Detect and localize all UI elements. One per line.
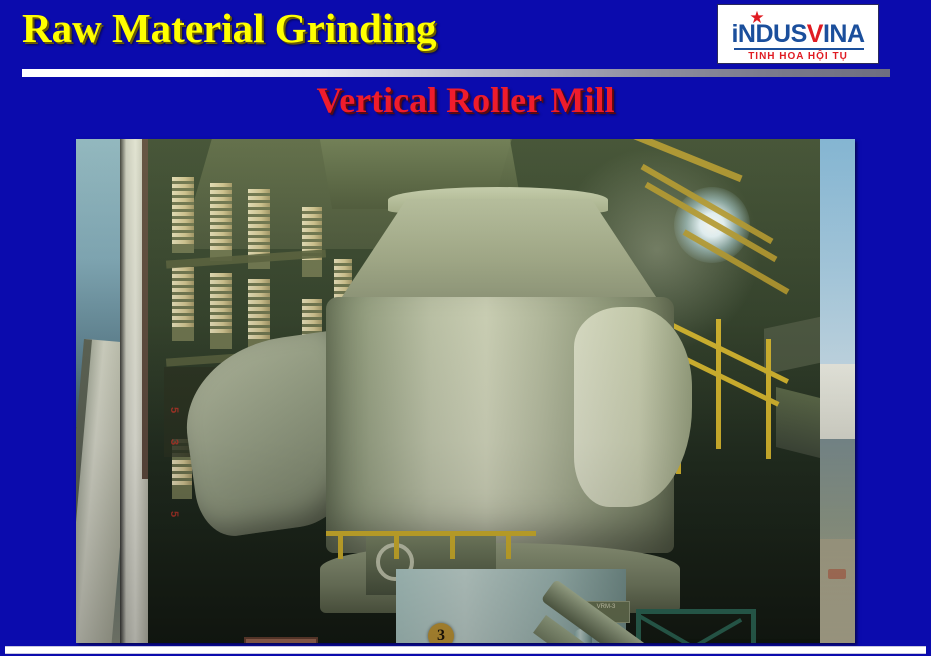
logo-word-part1: iNDUS: [731, 20, 806, 48]
page-subtitle: Vertical Roller Mill: [0, 79, 931, 121]
photo-railing-post: [338, 531, 343, 559]
logo-tagline: TINH HOA HỘI TỤ: [718, 50, 878, 63]
photo-crate: [244, 637, 318, 643]
photo-railing-post: [506, 531, 511, 559]
photo-right-ground-lower: [820, 539, 855, 643]
logo-word-part2: INA: [823, 20, 865, 48]
bottom-divider: [5, 646, 926, 654]
photo-railing-post: [394, 531, 399, 559]
photo-wall-marking: 5: [168, 407, 180, 413]
company-logo: ★ iNDUSVINA TINH HOA HỘI TỤ: [717, 4, 879, 64]
logo-inner: ★ iNDUSVINA TINH HOA HỘI TỤ: [718, 5, 878, 63]
photo-louver-panel: [302, 207, 322, 277]
photo-mill-number-badge: 3: [428, 623, 454, 643]
photo-wall-marking: 5: [168, 511, 180, 517]
photo-railing-post: [766, 339, 771, 459]
photo-louver-panel: [210, 273, 232, 349]
photo-louver-panel: [210, 183, 232, 261]
page-title: Raw Material Grinding: [22, 4, 437, 52]
slide-canvas: Raw Material Grinding ★ iNDUSVINA TINH H…: [0, 0, 931, 656]
photo-service-railing: [326, 531, 536, 536]
photo-right-roof: [820, 364, 855, 444]
photo-right-sky: [820, 139, 855, 379]
photo-louver-panel: [172, 177, 194, 253]
header-divider: [22, 69, 890, 77]
photo-ground-marking: [828, 569, 846, 579]
check-icon: V: [807, 20, 823, 48]
photo-wall-marking: 3: [168, 439, 180, 445]
photo-railing-post: [450, 531, 455, 559]
photo-railing-post: [716, 319, 721, 449]
logo-wordmark: iNDUSVINA: [718, 21, 878, 47]
mill-photo: 5 3 5 3 VRM-3: [76, 139, 855, 643]
photo-louver-panel: [172, 267, 194, 341]
